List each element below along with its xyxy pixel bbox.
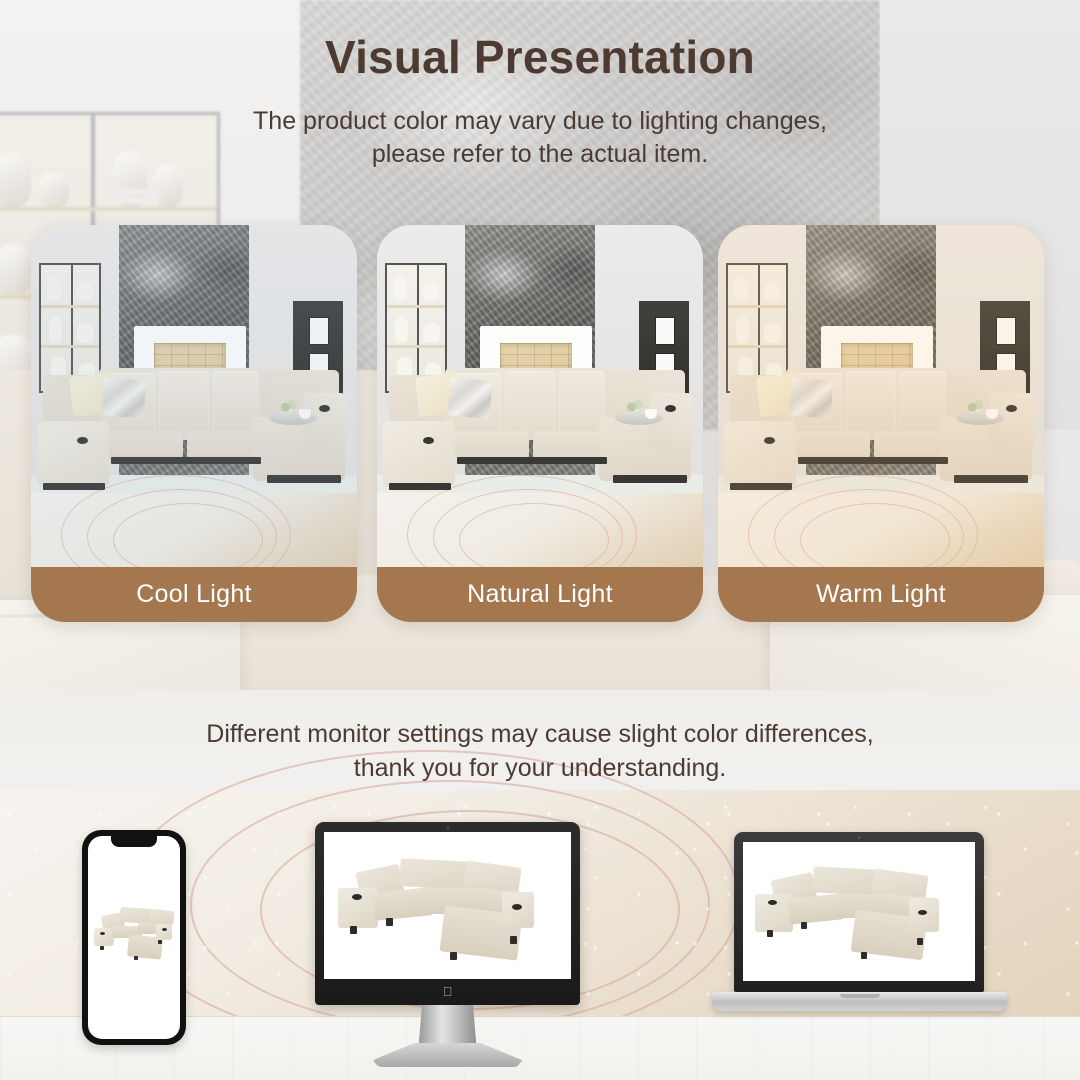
- living-room-photo: [718, 225, 1044, 622]
- subtitle-line-1: The product color may vary due to lighti…: [0, 105, 1080, 139]
- device-mockups: : [0, 810, 1080, 1080]
- panel-label-cool: Cool Light: [31, 567, 357, 622]
- header-subtitle: The product color may vary due to lighti…: [0, 105, 1080, 172]
- desktop-monitor-mockup: : [315, 822, 580, 1070]
- webcam-icon: [446, 826, 449, 829]
- panel-label-text: Warm Light: [816, 580, 946, 609]
- smartphone-screen: [88, 836, 180, 1039]
- living-room-photo: [31, 225, 357, 622]
- webcam-icon: [858, 836, 861, 839]
- lighting-panel-natural[interactable]: Natural Light: [377, 225, 703, 622]
- laptop-lid: [734, 832, 984, 992]
- footnote-line-1: Different monitor settings may cause sli…: [0, 718, 1080, 752]
- page-title: Visual Presentation: [0, 32, 1080, 83]
- lighting-panel-warm[interactable]: Warm Light: [718, 225, 1044, 622]
- panel-label-warm: Warm Light: [718, 567, 1044, 622]
- sofa-thumbnail: [324, 832, 571, 979]
- monitor-stand-base: [373, 1043, 523, 1067]
- living-room-photo: [377, 225, 703, 622]
- monitor-screen: [324, 832, 571, 979]
- laptop-base: [712, 992, 1007, 1011]
- monitor-body: : [315, 822, 580, 1005]
- laptop-screen: [743, 842, 975, 981]
- laptop-trackpad-notch: [840, 994, 880, 998]
- sofa-thumbnail: [88, 836, 180, 1039]
- panel-label-natural: Natural Light: [377, 567, 703, 622]
- lighting-panel-cool[interactable]: Cool Light: [31, 225, 357, 622]
- laptop-mockup: [712, 832, 1007, 1032]
- subtitle-line-2: please refer to the actual item.: [0, 138, 1080, 172]
- footer-note: Different monitor settings may cause sli…: [0, 718, 1080, 786]
- panel-label-text: Natural Light: [467, 580, 613, 609]
- header: Visual Presentation The product color ma…: [0, 0, 1080, 172]
- monitor-stand-neck: [419, 1005, 477, 1047]
- phone-notch: [111, 836, 157, 847]
- smartphone-mockup: [82, 830, 186, 1045]
- lighting-comparison-panels: Cool Light: [0, 225, 1080, 625]
- footnote-line-2: thank you for your understanding.: [0, 752, 1080, 786]
- sofa-thumbnail: [743, 842, 975, 981]
- panel-label-text: Cool Light: [136, 580, 252, 609]
- apple-logo-icon: : [442, 985, 453, 998]
